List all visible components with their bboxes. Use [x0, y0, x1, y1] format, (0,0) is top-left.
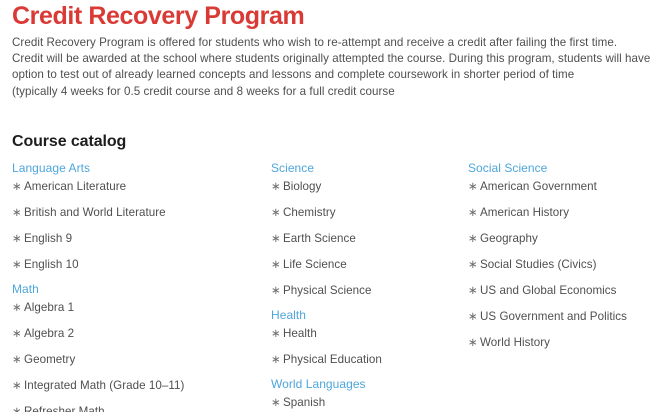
subject-title-math: Math	[12, 281, 262, 298]
course-item[interactable]: ∗ Life Science	[271, 256, 461, 282]
subject-title-language-arts: Language Arts	[12, 160, 262, 177]
course-label: Health	[283, 327, 317, 340]
course-label: English 9	[24, 232, 72, 245]
course-label: Earth Science	[283, 232, 356, 245]
course-label: Chemistry	[283, 206, 336, 219]
course-label: US Government and Politics	[480, 310, 627, 323]
description-line: Credit Recovery Program is offered for s…	[12, 35, 638, 51]
description-line: (typically 4 weeks for 0.5 credit course…	[12, 84, 638, 100]
course-label: World History	[480, 336, 550, 349]
course-catalog-columns: Language Arts ∗ American Literature ∗ Br…	[0, 160, 650, 412]
subject-title-social-science: Social Science	[468, 160, 648, 177]
page-title: Credit Recovery Program	[12, 1, 304, 31]
description-line: Credit will be awarded at the school whe…	[12, 51, 638, 67]
asterisk-bullet-icon: ∗	[12, 178, 22, 195]
subject-group-science: Science ∗ Biology ∗ Chemistry ∗ Earth Sc…	[271, 160, 461, 299]
course-item[interactable]: ∗ US Government and Politics	[468, 308, 648, 334]
program-page: Credit Recovery Program Credit Recovery …	[0, 0, 650, 412]
course-label: American History	[480, 206, 569, 219]
catalog-column-2: Science ∗ Biology ∗ Chemistry ∗ Earth Sc…	[271, 160, 461, 411]
course-item[interactable]: ∗ American Literature	[12, 178, 262, 204]
asterisk-bullet-icon: ∗	[12, 204, 22, 221]
course-item[interactable]: ∗ US and Global Economics	[468, 282, 648, 308]
course-item[interactable]: ∗ Integrated Math (Grade 10–11)	[12, 377, 262, 403]
asterisk-bullet-icon: ∗	[12, 299, 22, 316]
asterisk-bullet-icon: ∗	[271, 394, 281, 411]
course-label: Physical Science	[283, 284, 371, 297]
course-catalog-heading: Course catalog	[12, 132, 126, 152]
asterisk-bullet-icon: ∗	[12, 377, 22, 394]
course-item[interactable]: ∗ Geometry	[12, 351, 262, 377]
asterisk-bullet-icon: ∗	[468, 308, 478, 325]
asterisk-bullet-icon: ∗	[12, 230, 22, 247]
course-label: Geometry	[24, 353, 75, 366]
course-item[interactable]: ∗ Algebra 2	[12, 325, 262, 351]
course-item[interactable]: ∗ English 10	[12, 256, 262, 273]
subject-title-health: Health	[271, 307, 461, 324]
program-description: Credit Recovery Program is offered for s…	[12, 35, 638, 100]
course-item[interactable]: ∗ World History	[468, 334, 648, 351]
course-item[interactable]: ∗ Earth Science	[271, 230, 461, 256]
subject-group-social-science: Social Science ∗ American Government ∗ A…	[468, 160, 648, 351]
course-item[interactable]: ∗ Social Studies (Civics)	[468, 256, 648, 282]
course-item[interactable]: ∗ Health	[271, 325, 461, 351]
asterisk-bullet-icon: ∗	[468, 230, 478, 247]
course-item[interactable]: ∗ Physical Education	[271, 351, 461, 368]
course-label: English 10	[24, 258, 79, 271]
subject-title-world-languages: World Languages	[271, 376, 461, 393]
subject-group-language-arts: Language Arts ∗ American Literature ∗ Br…	[12, 160, 262, 273]
course-item[interactable]: ∗ English 9	[12, 230, 262, 256]
course-label: British and World Literature	[24, 206, 166, 219]
course-label: Spanish	[283, 396, 325, 409]
asterisk-bullet-icon: ∗	[271, 256, 281, 273]
course-label: Integrated Math (Grade 10–11)	[24, 379, 184, 392]
course-label: Physical Education	[283, 353, 382, 366]
asterisk-bullet-icon: ∗	[271, 351, 281, 368]
course-label: Algebra 2	[24, 327, 74, 340]
course-label: Refresher Math	[24, 405, 105, 412]
course-label: American Government	[480, 180, 597, 193]
course-item[interactable]: ∗ Algebra 1	[12, 299, 262, 325]
asterisk-bullet-icon: ∗	[271, 178, 281, 195]
course-item[interactable]: ∗ Spanish	[271, 394, 461, 411]
asterisk-bullet-icon: ∗	[468, 334, 478, 351]
course-item[interactable]: ∗ Biology	[271, 178, 461, 204]
asterisk-bullet-icon: ∗	[12, 351, 22, 368]
description-line: option to test out of already learned co…	[12, 67, 638, 83]
subject-group-health: Health ∗ Health ∗ Physical Education	[271, 307, 461, 368]
subject-group-world-languages: World Languages ∗ Spanish	[271, 376, 461, 411]
course-label: Biology	[283, 180, 321, 193]
asterisk-bullet-icon: ∗	[271, 282, 281, 299]
asterisk-bullet-icon: ∗	[468, 282, 478, 299]
course-label: Geography	[480, 232, 538, 245]
course-label: Social Studies (Civics)	[480, 258, 596, 271]
course-label: American Literature	[24, 180, 126, 193]
asterisk-bullet-icon: ∗	[12, 403, 22, 412]
course-item[interactable]: ∗ Physical Science	[271, 282, 461, 299]
course-item[interactable]: ∗ Geography	[468, 230, 648, 256]
catalog-column-3: Social Science ∗ American Government ∗ A…	[468, 160, 648, 351]
course-label: Life Science	[283, 258, 347, 271]
course-item[interactable]: ∗ Chemistry	[271, 204, 461, 230]
subject-group-math: Math ∗ Algebra 1 ∗ Algebra 2 ∗ Geometry …	[12, 281, 262, 412]
asterisk-bullet-icon: ∗	[271, 204, 281, 221]
asterisk-bullet-icon: ∗	[12, 256, 22, 273]
asterisk-bullet-icon: ∗	[468, 256, 478, 273]
catalog-column-1: Language Arts ∗ American Literature ∗ Br…	[12, 160, 262, 412]
asterisk-bullet-icon: ∗	[12, 325, 22, 342]
course-item[interactable]: ∗ British and World Literature	[12, 204, 262, 230]
course-item[interactable]: ∗ American History	[468, 204, 648, 230]
course-item[interactable]: ∗ American Government	[468, 178, 648, 204]
asterisk-bullet-icon: ∗	[468, 178, 478, 195]
subject-title-science: Science	[271, 160, 461, 177]
course-item[interactable]: ∗ Refresher Math	[12, 403, 262, 412]
asterisk-bullet-icon: ∗	[271, 325, 281, 342]
course-label: Algebra 1	[24, 301, 74, 314]
course-label: US and Global Economics	[480, 284, 616, 297]
asterisk-bullet-icon: ∗	[468, 204, 478, 221]
asterisk-bullet-icon: ∗	[271, 230, 281, 247]
